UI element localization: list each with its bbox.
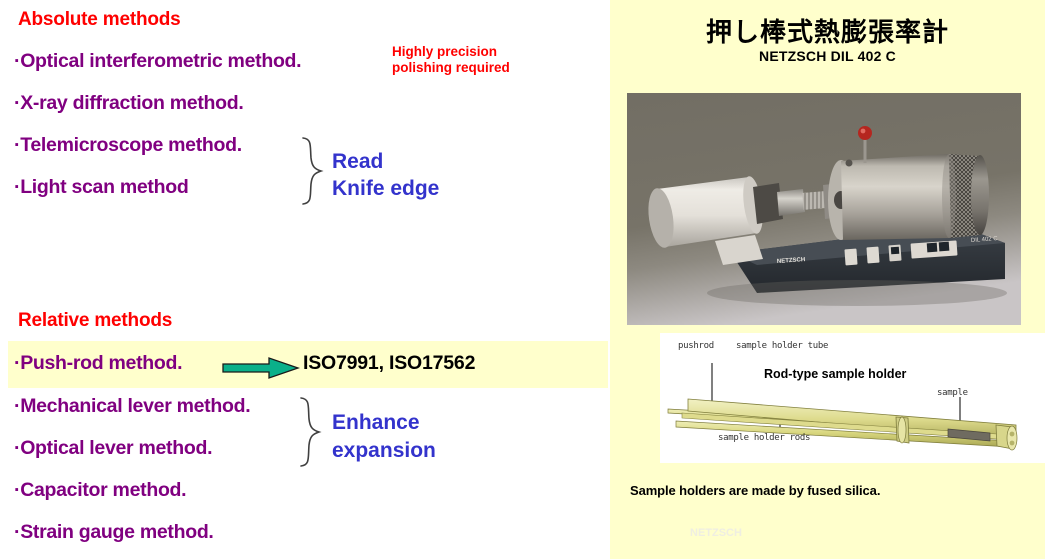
green-arrow-icon bbox=[222, 357, 300, 379]
sample-holder-diagram: pushrod sample holder tube Rod-type samp… bbox=[660, 333, 1045, 463]
diagram-label-sample: sample bbox=[937, 388, 968, 398]
diagram-title: Rod-type sample holder bbox=[764, 367, 906, 381]
slide-root: Absolute methods ·Optical interferometri… bbox=[0, 0, 1045, 559]
relative-methods-heading: Relative methods bbox=[18, 310, 172, 332]
instrument-model-label: NETZSCH DIL 402 C bbox=[610, 48, 1045, 64]
diagram-label-sample-holder-tube: sample holder tube bbox=[736, 341, 828, 351]
enhance-note-line-1: Enhance bbox=[332, 409, 420, 436]
list-item-telemicroscope: ·Telemicroscope method. bbox=[14, 134, 242, 157]
dilatometer-photo-illustration: NETZSCH DIL 402 C bbox=[627, 93, 1021, 325]
fused-silica-caption: Sample holders are made by fused silica. bbox=[630, 483, 880, 498]
instrument-title-japanese: 押し棒式熱膨張率計 bbox=[610, 12, 1045, 49]
diagram-label-sample-holder-rods: sample holder rods bbox=[718, 433, 810, 443]
right-figure-panel: 押し棒式熱膨張率計 NETZSCH DIL 402 C bbox=[610, 0, 1045, 559]
diagram-label-strip bbox=[660, 333, 1045, 363]
diagram-label-pushrod: pushrod bbox=[678, 341, 714, 351]
list-item-strain-gauge: ·Strain gauge method. bbox=[14, 521, 214, 544]
list-item-mechanical-lever: ·Mechanical lever method. bbox=[14, 395, 250, 418]
list-item-light-scan: ·Light scan method bbox=[14, 176, 188, 199]
brace-enhance-expansion bbox=[298, 396, 324, 468]
enhance-note-line-2: expansion bbox=[332, 437, 436, 464]
faint-watermark-text: NETZSCH bbox=[690, 527, 742, 539]
precision-note-line-1: Highly precision bbox=[392, 44, 497, 59]
precision-note-line-2: polishing required bbox=[392, 60, 510, 75]
absolute-methods-heading: Absolute methods bbox=[18, 9, 181, 31]
dilatometer-photo: NETZSCH DIL 402 C bbox=[627, 93, 1021, 325]
brace-read-knife-edge bbox=[300, 136, 326, 206]
list-item-optical-interferometric: ·Optical interferometric method. bbox=[14, 50, 301, 73]
list-item-xray-diffraction: ·X-ray diffraction method. bbox=[14, 92, 243, 115]
list-item-capacitor: ·Capacitor method. bbox=[14, 479, 186, 502]
read-note-line-2: Knife edge bbox=[332, 175, 439, 202]
iso-standards-text: ISO7991, ISO17562 bbox=[303, 352, 475, 375]
read-note-line-1: Read bbox=[332, 148, 383, 175]
list-item-push-rod: ·Push-rod method. bbox=[14, 352, 182, 375]
left-content-panel: Absolute methods ·Optical interferometri… bbox=[0, 0, 610, 559]
list-item-optical-lever: ·Optical lever method. bbox=[14, 437, 212, 460]
